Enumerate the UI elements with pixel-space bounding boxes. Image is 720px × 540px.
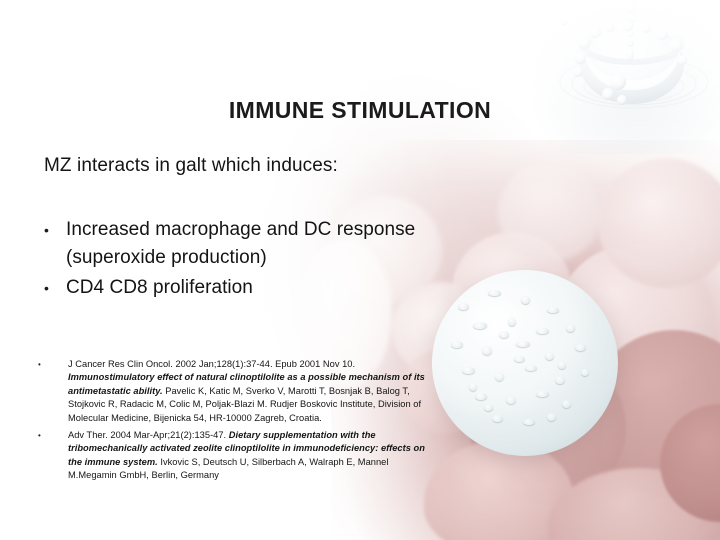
bullet-icon: • [40, 274, 66, 302]
list-item: • Adv Ther. 2004 Mar-Apr;21(2):135-47. D… [34, 429, 434, 483]
reference-lead: Adv Ther. 2004 Mar-Apr;21(2):135-47. [68, 430, 229, 440]
bullet-text: Increased macrophage and DC response (su… [66, 216, 460, 272]
reference-text: Adv Ther. 2004 Mar-Apr;21(2):135-47. Die… [68, 429, 434, 483]
bullet-icon: • [34, 358, 68, 372]
slide-canvas: IMMUNE STIMULATION MZ interacts in galt … [0, 0, 720, 540]
slide-subtitle: MZ interacts in galt which induces: [44, 155, 338, 177]
list-item: • Increased macrophage and DC response (… [40, 216, 460, 272]
reference-list: • J Cancer Res Clin Oncol. 2002 Jan;128(… [34, 358, 434, 487]
bullet-icon: • [40, 216, 66, 244]
list-item: • J Cancer Res Clin Oncol. 2002 Jan;128(… [34, 358, 434, 425]
reference-lead: J Cancer Res Clin Oncol. 2002 Jan;128(1)… [68, 359, 355, 369]
page-title: IMMUNE STIMULATION [0, 97, 720, 124]
bullet-list: • Increased macrophage and DC response (… [40, 216, 460, 304]
slide-content: IMMUNE STIMULATION MZ interacts in galt … [0, 0, 720, 540]
reference-text: J Cancer Res Clin Oncol. 2002 Jan;128(1)… [68, 358, 434, 425]
bullet-text: CD4 CD8 proliferation [66, 274, 253, 302]
list-item: • CD4 CD8 proliferation [40, 274, 460, 302]
bullet-icon: • [34, 429, 68, 443]
